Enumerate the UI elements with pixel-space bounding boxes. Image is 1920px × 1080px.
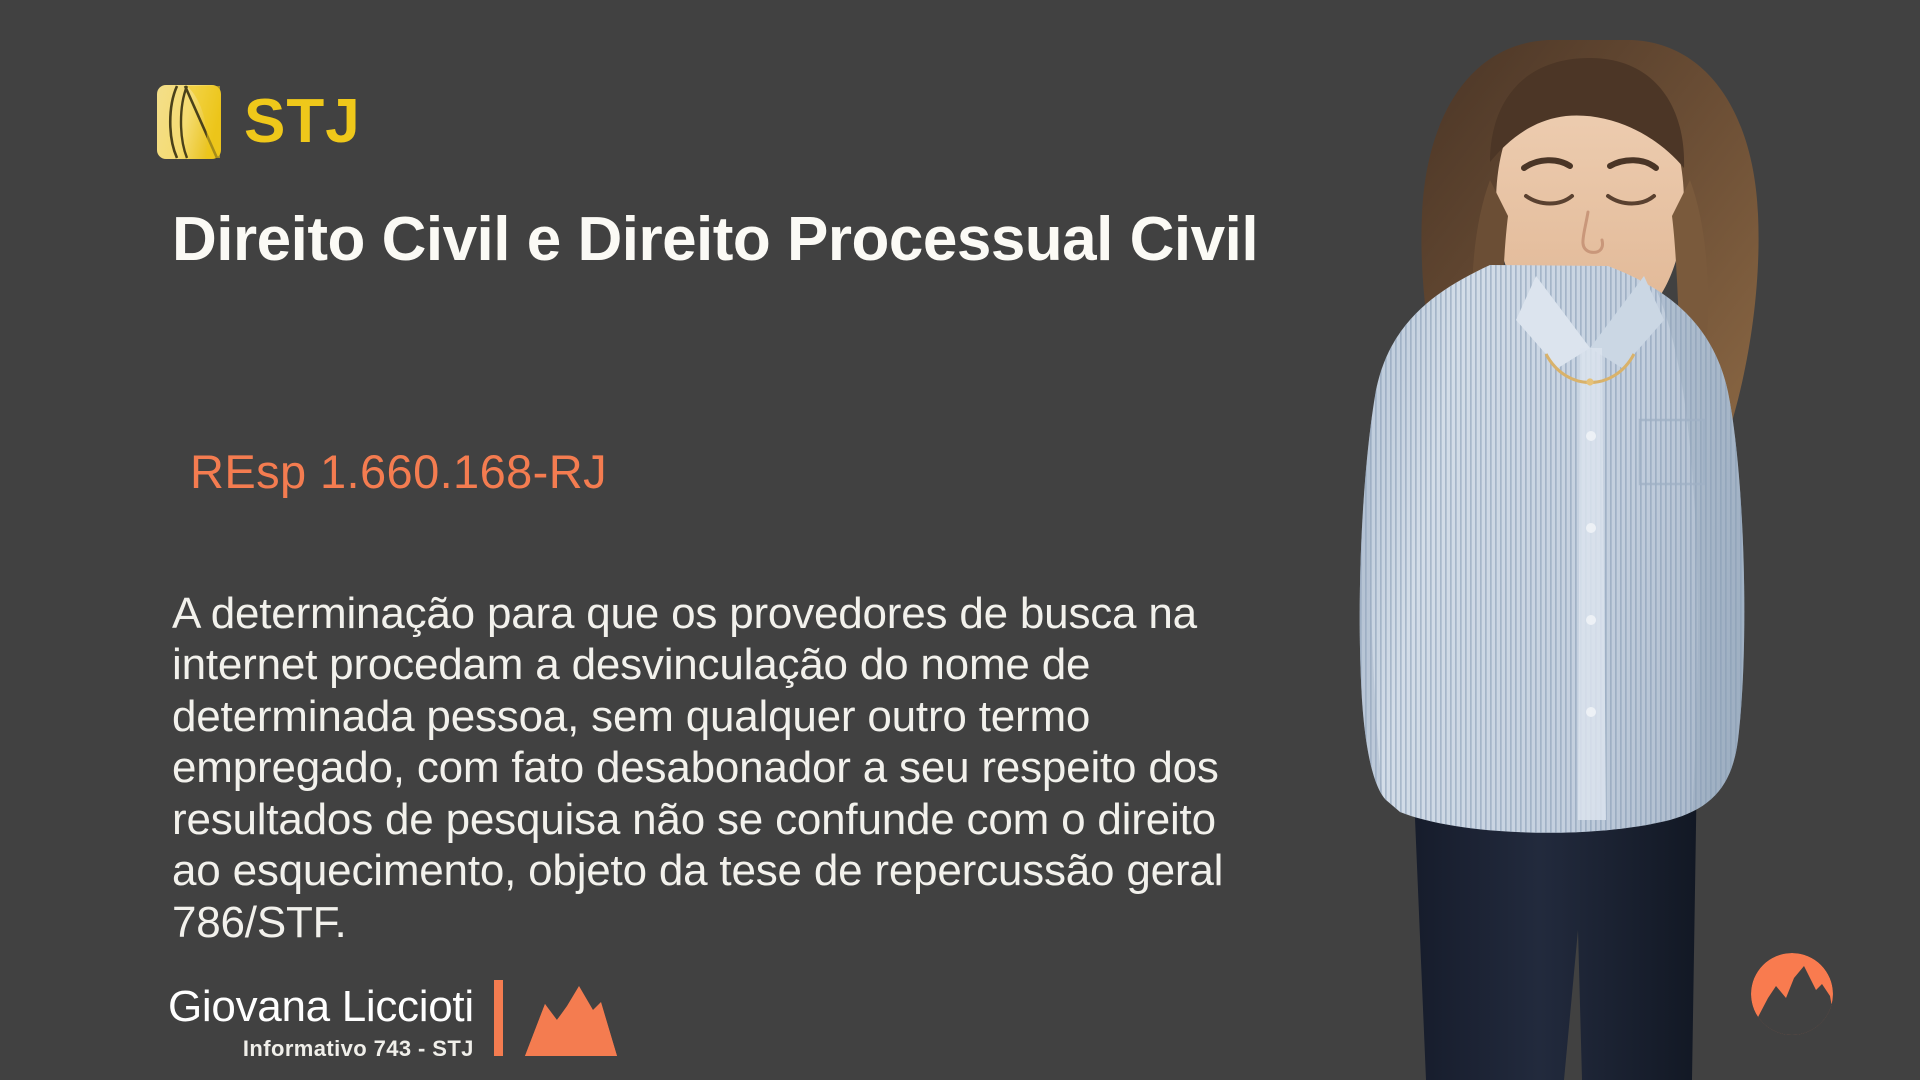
stj-brand: STJ: [156, 84, 361, 160]
slide-title: Direito Civil e Direito Processual Civil: [172, 205, 1402, 274]
stj-book-mark-icon: [156, 84, 222, 160]
body-line: 786/STF.: [172, 897, 1632, 948]
body-line: resultados de pesquisa não se confunde c…: [172, 794, 1632, 845]
signature-name: Giovana Liccioti: [168, 985, 474, 1030]
presenter-signature: Giovana Liccioti Informativo 743 - STJ: [168, 980, 619, 1062]
mountain-circle-icon: [1750, 952, 1834, 1036]
body-line: A determinação para que os provedores de…: [172, 588, 1632, 639]
body-paragraph: A determinação para que os provedores de…: [172, 588, 1632, 948]
signature-divider: [494, 980, 503, 1056]
body-line: empregado, com fato desabonador a seu re…: [172, 742, 1632, 793]
body-line: internet procedam a desvinculação do nom…: [172, 639, 1632, 690]
mountain-icon: [523, 980, 619, 1058]
signature-names: Giovana Liccioti Informativo 743 - STJ: [168, 985, 474, 1062]
presentation-slide: STJ Direito Civil e Direito Processual C…: [0, 0, 1920, 1080]
stj-wordmark: STJ: [244, 91, 361, 153]
body-line: determinada pessoa, sem qualquer outro t…: [172, 691, 1632, 742]
case-number: REsp 1.660.168-RJ: [190, 444, 607, 499]
signature-subtitle: Informativo 743 - STJ: [243, 1036, 474, 1062]
body-line: ao esquecimento, objeto da tese de reper…: [172, 845, 1632, 896]
